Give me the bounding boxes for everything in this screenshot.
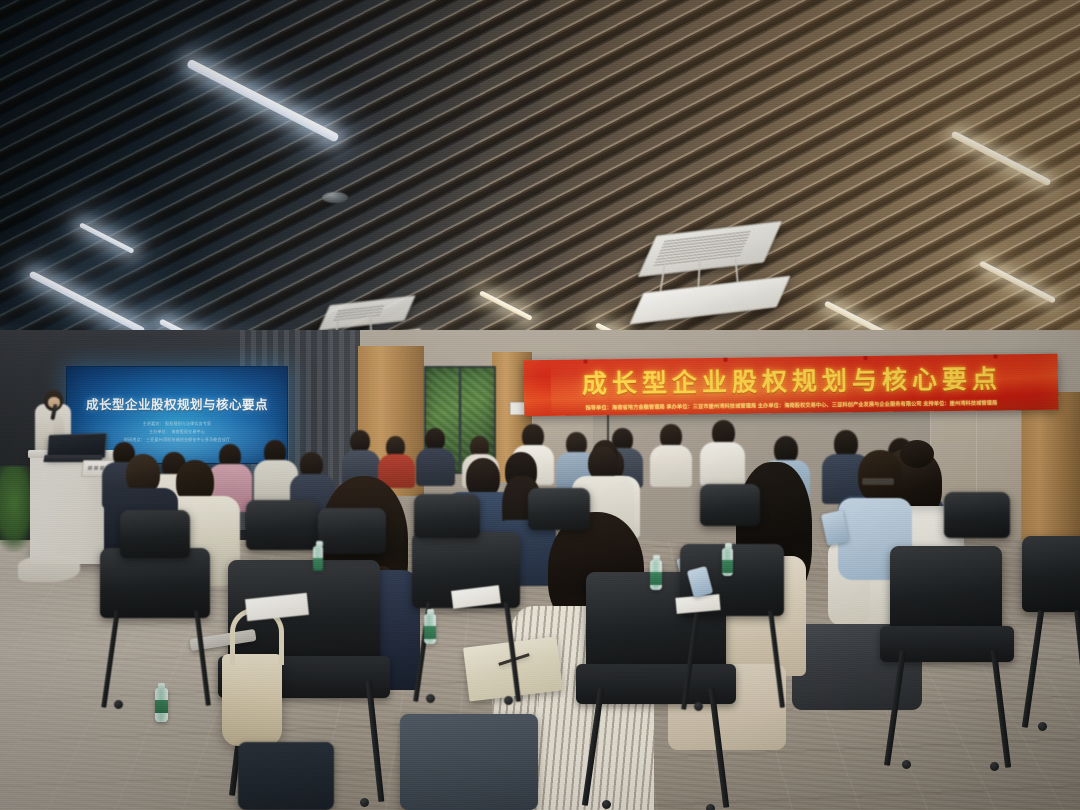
chair-caster <box>504 696 513 705</box>
chair-backrest <box>528 488 590 530</box>
banner-clip <box>993 354 997 359</box>
chair-caster <box>602 800 611 809</box>
water-bottle <box>313 546 323 570</box>
chair-leg <box>194 610 211 706</box>
water-bottle <box>424 614 436 644</box>
attendee-body <box>416 448 455 486</box>
training-chair <box>392 532 542 722</box>
attendee-body <box>650 445 692 487</box>
water-bottle <box>650 560 662 590</box>
chair-leg <box>1022 610 1044 728</box>
attendee-head <box>858 450 902 502</box>
backpack <box>400 714 538 810</box>
chair-backrest <box>318 508 386 554</box>
chair-backrest <box>246 500 318 550</box>
chair-leg <box>884 650 906 766</box>
training-chair <box>76 548 226 728</box>
chair-backrest <box>944 492 1010 538</box>
chair-leg <box>768 610 785 708</box>
banner-title: 成长型企业股权规划与核心要点 <box>534 359 1051 401</box>
chair-leg <box>1074 610 1080 722</box>
ac-grille <box>318 295 416 331</box>
seminar-room-photo: 成长型企业股权规划与核心要点 主讲嘉宾： 股权规划与法律实务专家 主办单位： 海… <box>0 0 1080 810</box>
chair-leg <box>681 610 700 710</box>
chair-leg <box>504 602 521 702</box>
water-bottle <box>722 548 733 576</box>
floor-cloth <box>18 556 80 582</box>
chair-backrest <box>1022 536 1080 612</box>
event-banner: 成长型企业股权规划与核心要点 指导单位：海南省地方金融管理局 承办单位：三亚市崖… <box>523 354 1058 417</box>
chair-caster <box>426 694 435 703</box>
chair-leg <box>366 680 385 802</box>
tote-bag <box>222 654 282 746</box>
chair-leg <box>991 650 1011 768</box>
chair-backrest <box>414 494 480 538</box>
ceiling-ac-cassette <box>640 228 790 308</box>
attendee-hair-topknot <box>900 440 934 468</box>
wall-switch-plate <box>510 402 525 415</box>
glasses-icon <box>862 478 894 485</box>
sprinkler-icon <box>322 192 348 203</box>
chair-backrest <box>700 484 760 526</box>
slide-title: 成长型企业股权规划与核心要点 <box>67 394 287 413</box>
backpack <box>238 742 334 810</box>
chair-backrest <box>100 548 210 618</box>
chair-caster <box>114 700 123 709</box>
training-chair <box>660 544 810 734</box>
chair-backrest <box>120 510 190 558</box>
chair-caster <box>360 798 369 807</box>
water-bottle <box>155 688 168 722</box>
chair-caster <box>902 760 911 769</box>
chair-leg <box>101 610 120 708</box>
attendee-body <box>700 442 745 486</box>
chair-leg <box>582 688 604 806</box>
ac-grille <box>637 221 782 278</box>
chair-caster <box>1038 722 1047 731</box>
chair-caster <box>706 804 715 810</box>
banner-subtitle: 指导单位：海南省地方金融管理局 承办单位：三亚市崖州湾科技城管理局 主办单位：海… <box>530 399 1052 412</box>
chair-caster <box>990 762 999 771</box>
slide-subtitle-1: 主讲嘉宾： 股权规划与法律实务专家 <box>67 421 287 427</box>
training-chair <box>1016 536 1080 756</box>
chair-backrest <box>890 546 1002 634</box>
chair-caster <box>694 702 703 711</box>
